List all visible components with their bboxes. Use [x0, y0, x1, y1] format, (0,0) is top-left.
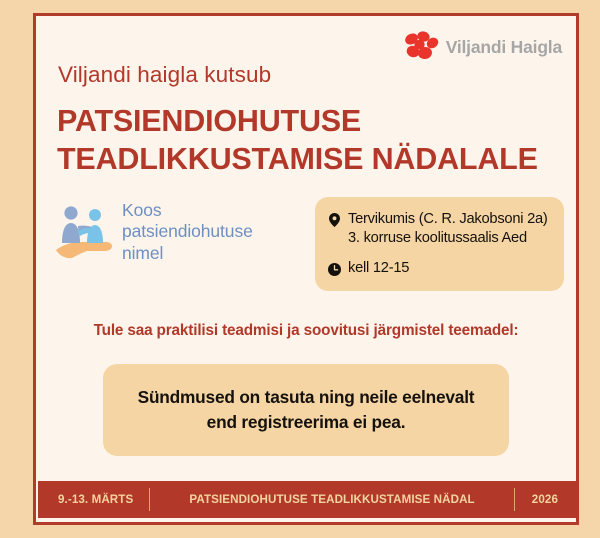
kicker-text: Viljandi haigla kutsub: [58, 62, 271, 88]
location-row: Tervikumis (C. R. Jakobsoni 2a) 3. korru…: [328, 210, 550, 248]
footer-bar: 9.-13. MÄRTS PATSIENDIOHUTUSE TEADLIKKUS…: [38, 481, 578, 518]
campaign-wordmark-line-2: patsiendiohutuse: [122, 221, 253, 242]
campaign-wordmark-line-1: Koos: [122, 200, 253, 221]
time-row: kell 12-15: [328, 259, 550, 278]
footer-date-range: 9.-13. MÄRTS: [38, 493, 149, 506]
map-pin-icon: [328, 210, 341, 229]
footer-campaign-title: PATSIENDIOHUTUSE TEADLIKKUSTAMISE NÄDAL: [150, 493, 514, 506]
campaign-wordmark-line-3: nimel: [122, 243, 253, 264]
prompt-text: Tule saa praktilisi teadmisi ja soovitus…: [36, 322, 576, 340]
flower-petals-icon: [403, 30, 439, 64]
campaign-logo: Koos patsiendiohutuse nimel: [54, 200, 253, 264]
page-title-line-2: TEADLIKKUSTAMISE NÄDALALE: [57, 140, 567, 178]
notice-line-1: Sündmused on tasuta ning neile eelnevalt: [127, 385, 485, 410]
time-text: kell 12-15: [348, 259, 409, 278]
poster-card: Viljandi Haigla Viljandi haigla kutsub P…: [36, 16, 576, 522]
campaign-wordmark: Koos patsiendiohutuse nimel: [122, 200, 253, 264]
event-info-card: Tervikumis (C. R. Jakobsoni 2a) 3. korru…: [315, 197, 564, 291]
location-line-1: Tervikumis (C. R. Jakobsoni 2a): [348, 210, 548, 229]
time-value: kell 12-15: [348, 259, 409, 278]
hospital-logo: Viljandi Haigla: [403, 30, 562, 64]
two-people-in-hand-icon: [54, 201, 116, 263]
notice-box: Sündmused on tasuta ning neile eelnevalt…: [103, 364, 509, 456]
clock-icon: [328, 259, 341, 278]
location-line-2: 3. korruse koolitussaalis Aed: [348, 229, 548, 248]
hospital-brand-name: Viljandi Haigla: [446, 37, 562, 58]
page-title: PATSIENDIOHUTUSE TEADLIKKUSTAMISE NÄDALA…: [57, 102, 567, 178]
poster-frame: Viljandi Haigla Viljandi haigla kutsub P…: [33, 13, 579, 525]
footer-year: 2026: [515, 493, 578, 506]
page-title-line-1: PATSIENDIOHUTUSE: [57, 104, 361, 138]
location-text: Tervikumis (C. R. Jakobsoni 2a) 3. korru…: [348, 210, 548, 248]
mid-section: Koos patsiendiohutuse nimel Tervikumis (…: [36, 184, 576, 294]
notice-line-2: end registreerima ei pea.: [127, 410, 485, 435]
